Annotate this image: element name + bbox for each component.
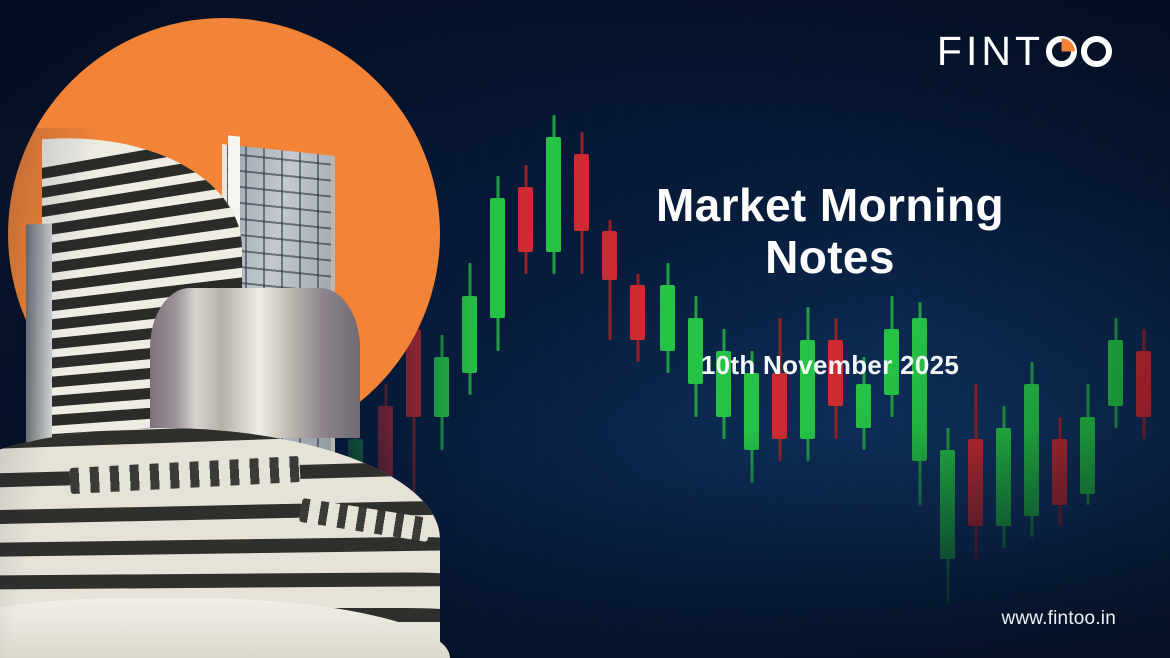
- podium-columns: [150, 288, 360, 438]
- logo-pie-o-icon: [1045, 35, 1078, 68]
- logo-text-fint: FINT: [937, 31, 1044, 72]
- fintoo-logo[interactable]: FINT: [937, 28, 1114, 74]
- title-line-1: Market Morning: [590, 180, 1070, 232]
- podium-band: [0, 572, 440, 590]
- page-title: Market Morning Notes: [590, 180, 1070, 283]
- publication-date: 10th November 2025: [590, 350, 1070, 381]
- podium-band: [0, 428, 440, 453]
- bse-building-illustration: [0, 128, 390, 658]
- logo-letter-o-icon: [1080, 35, 1113, 68]
- title-line-2: Notes: [590, 232, 1070, 284]
- podium-slot-vents: [69, 456, 300, 494]
- website-url[interactable]: www.fintoo.in: [1001, 608, 1116, 630]
- podium-band: [0, 536, 440, 559]
- poster-canvas: FINT Market Morning Notes 10th November …: [0, 0, 1170, 658]
